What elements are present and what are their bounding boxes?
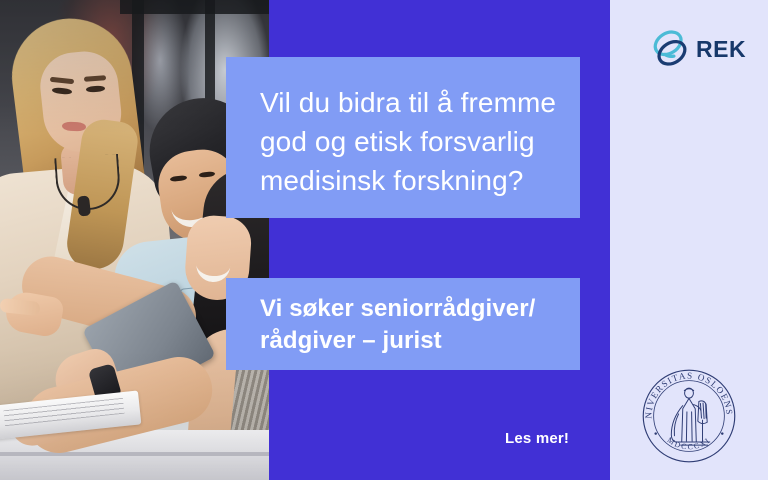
seal-dot <box>654 432 656 434</box>
seal-year-text: MDCCCXI <box>666 435 713 451</box>
rek-wordmark: REK <box>696 38 746 61</box>
headline-text: Vil du bidra til å fremme god og etisk f… <box>226 57 580 201</box>
job-title-text: Vi søker seniorrådgiver/ rådgiver – juri… <box>226 278 580 356</box>
recruitment-banner: Vil du bidra til å fremme god og etisk f… <box>0 0 768 480</box>
job-title-box: Vi søker seniorrådgiver/ rådgiver – juri… <box>226 278 580 370</box>
uio-seal: UNIVERSITAS OSLOENSIS MDCCCXI <box>637 364 741 468</box>
headline-box: Vil du bidra til å fremme god og etisk f… <box>226 57 580 218</box>
rek-logo[interactable]: REK <box>650 27 742 71</box>
interlocking-rings-icon <box>650 28 692 70</box>
seal-dot <box>721 432 723 434</box>
apollo-with-lyre-icon <box>671 388 709 445</box>
read-more-link[interactable]: Les mer! <box>505 430 569 447</box>
seal-outer-text: UNIVERSITAS OSLOENSIS <box>637 364 735 419</box>
